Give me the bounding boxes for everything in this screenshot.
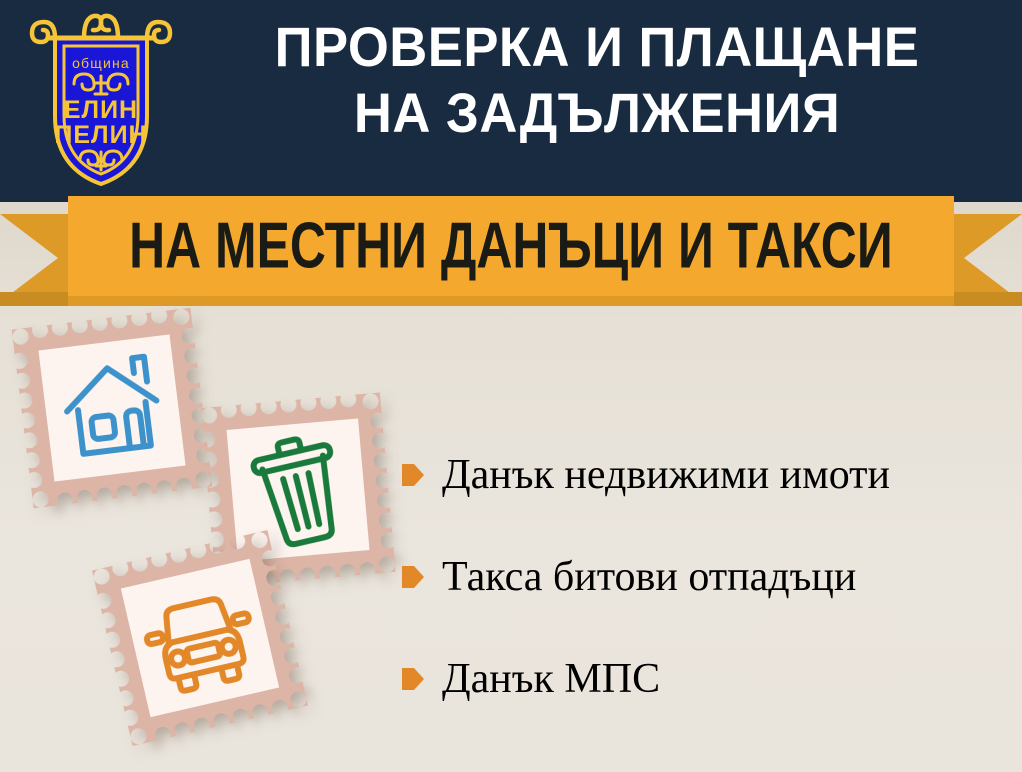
crest-line-small: община	[72, 55, 130, 71]
arrow-bullet-icon	[402, 666, 424, 692]
list-item[interactable]: Данък МПС	[402, 628, 1012, 730]
arrow-bullet-icon	[402, 462, 424, 488]
ribbon-label: НА МЕСТНИ ДАНЪЦИ И ТАКСИ	[129, 212, 893, 279]
crest-line-2: ПЕЛИН	[54, 121, 147, 149]
ribbon-main: НА МЕСТНИ ДАНЪЦИ И ТАКСИ	[68, 196, 954, 296]
list-item-label: Данък недвижими имоти	[442, 452, 890, 498]
page-title-line-2: НА ЗАДЪЛЖЕНИЯ	[207, 80, 987, 146]
crest-line-1: ЕЛИН	[64, 96, 138, 124]
municipality-crest-icon: община ЕЛИН ПЕЛИН	[22, 8, 180, 190]
list-item-label: Данък МПС	[442, 656, 660, 702]
page-title-line-1: ПРОВЕРКА И ПЛАЩАНЕ	[207, 14, 987, 80]
subtitle-ribbon: НА МЕСТНИ ДАНЪЦИ И ТАКСИ	[0, 196, 1022, 308]
arrow-bullet-icon	[402, 564, 424, 590]
list-item-label: Такса битови отпадъци	[442, 554, 856, 600]
list-item[interactable]: Такса битови отпадъци	[402, 526, 1012, 628]
list-item[interactable]: Данък недвижими имоти	[402, 424, 1012, 526]
header-titles: ПРОВЕРКА И ПЛАЩАНЕ НА ЗАДЪЛЖЕНИЯ	[182, 14, 1012, 146]
poster-canvas: община ЕЛИН ПЕЛИН ПРОВЕРКА И ПЛАЩАНЕ НА …	[0, 0, 1022, 772]
ribbon-main-shadow	[68, 296, 954, 306]
stamp-card-house	[12, 308, 213, 509]
services-list: Данък недвижими имоти Такса битови отпад…	[402, 424, 1012, 730]
